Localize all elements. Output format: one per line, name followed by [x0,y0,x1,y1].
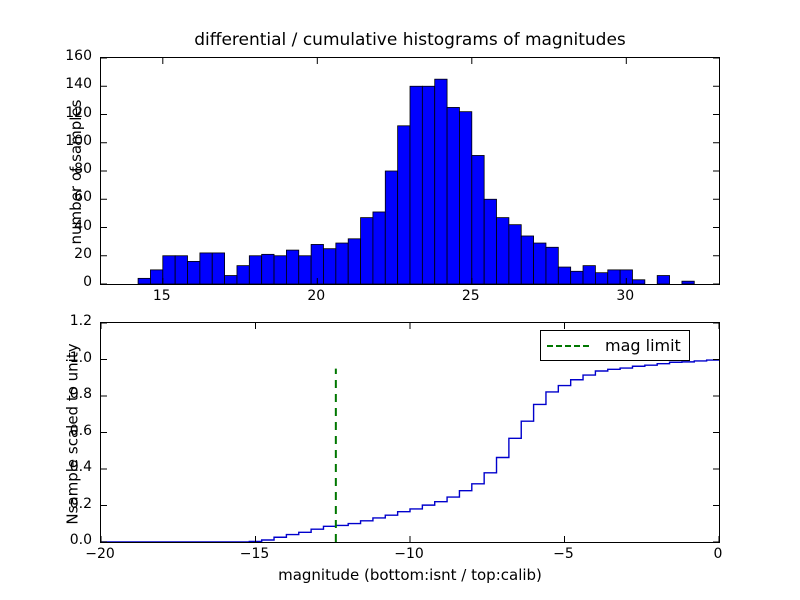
histogram-bar [398,126,410,284]
histogram-bar [274,256,286,284]
histogram-bar [299,256,311,284]
legend: mag limit [540,330,690,361]
histogram-bar [262,254,274,284]
cumulative-curve [101,360,719,543]
histogram-bar [632,280,644,284]
histogram-bar [237,266,249,284]
bottom-x-tick-label: −10 [384,546,434,562]
bottom-y-tick-label: 1.2 [48,313,92,329]
histogram-bar [521,236,533,284]
bottom-x-tick-label: −20 [75,546,125,562]
top-x-tick-label: 20 [291,288,341,304]
histogram-bar [484,199,496,284]
bottom-x-tick-label: −15 [230,546,280,562]
histogram-bar [361,218,373,284]
top-y-tick-label: 0 [48,274,92,290]
histogram-bar [608,270,620,284]
histogram-bar [212,253,224,284]
top-y-tick-label: 60 [48,189,92,205]
histogram-bar [657,276,669,284]
histogram-bar [435,79,447,284]
histogram-bar [447,107,459,284]
histogram-bar [509,225,521,284]
histogram-bar [225,276,237,284]
bottom-y-tick-label: 0.8 [48,386,92,402]
histogram-bar [472,155,484,284]
histogram-bar [385,171,397,284]
histogram-bar [200,253,212,284]
histogram-bar [188,261,200,284]
histogram-bar [583,266,595,284]
histogram-bar [422,86,434,284]
top-y-tick-label: 80 [48,161,92,177]
histogram-bar [336,243,348,284]
histogram-bar [497,218,509,284]
top-y-tick-label: 120 [48,105,92,121]
x-axis-label: magnitude (bottom:isnt / top:calib) [100,566,720,584]
mag-limit-line-swatch [547,345,589,347]
top-x-tick-label: 30 [600,288,650,304]
top-y-tick-label: 140 [48,76,92,92]
histogram-bar [459,112,471,284]
histogram-bar [534,243,546,284]
histogram-bar [682,281,694,284]
histogram-bar [348,239,360,284]
histogram-bar [571,271,583,284]
figure-title: differential / cumulative histograms of … [100,30,720,50]
top-y-tick-label: 40 [48,218,92,234]
top-y-tick-label: 160 [48,48,92,64]
top-x-tick-label: 15 [137,288,187,304]
histogram-bar [286,250,298,284]
histogram-bar [410,86,422,284]
bottom-y-tick-label: 1.0 [48,350,92,366]
top-y-tick-label: 20 [48,246,92,262]
differential-histogram-axes [100,57,720,285]
top-x-tick-label: 25 [446,288,496,304]
histogram-bar [546,247,558,284]
histogram-bar [323,249,335,284]
histogram-bar [595,273,607,284]
histogram-bar [373,212,385,284]
bottom-x-tick-label: 0 [693,546,743,562]
bottom-y-tick-label: 0.4 [48,459,92,475]
legend-item-label: mag limit [605,336,681,355]
top-y-tick-label: 100 [48,133,92,149]
histogram-bar [249,256,261,284]
histogram-bar [150,270,162,284]
histogram-bar [175,256,187,284]
histogram-bar [138,278,150,284]
histogram-bar [163,256,175,284]
bottom-y-tick-label: 0.6 [48,423,92,439]
differential-histogram-plot [101,58,719,284]
histogram-bar [558,267,570,284]
bottom-x-tick-label: −5 [539,546,589,562]
matplotlib-figure: differential / cumulative histograms of … [0,0,800,600]
bottom-y-tick-label: 0.2 [48,496,92,512]
